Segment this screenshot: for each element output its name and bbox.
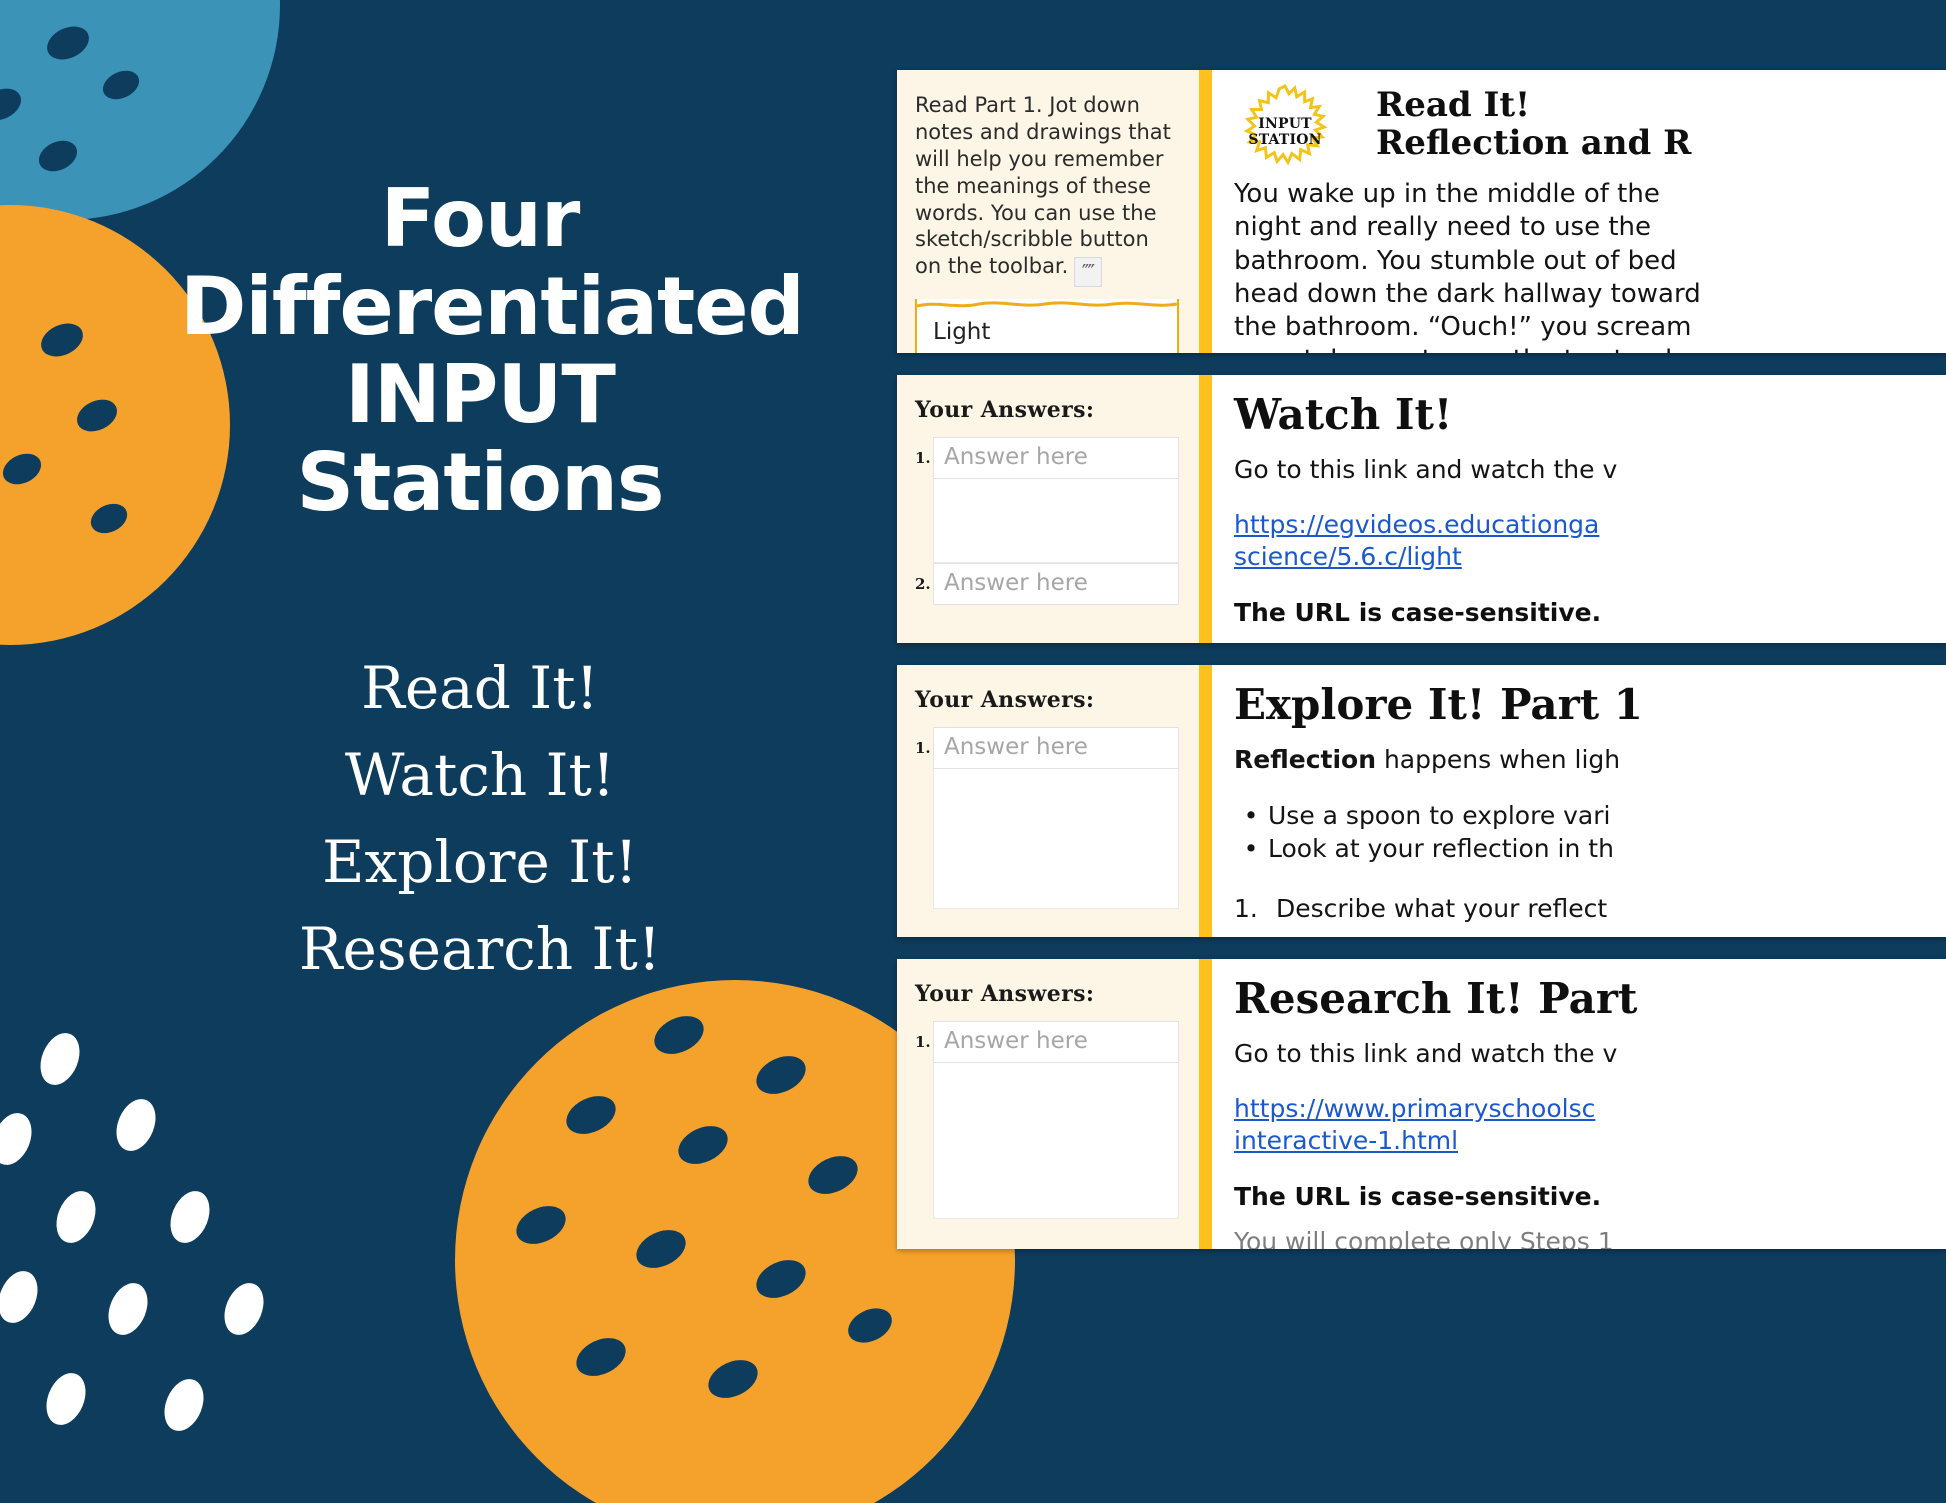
answer-input-1[interactable]: Answer here (933, 1021, 1179, 1063)
vocab-word: Light (917, 311, 1177, 353)
bullet-icon: • (1234, 799, 1268, 833)
research-it-faded-line: You will complete only Steps 1 (1234, 1227, 1946, 1249)
badge-label: INPUT STATION (1236, 84, 1334, 182)
question-number: 1. (1234, 892, 1276, 926)
research-it-content-pane: Research It! Part Go to this link and wa… (1199, 959, 1946, 1249)
research-it-url-note: The URL is case-sensitive. (1234, 1182, 1946, 1211)
research-it-answers-pane: Your Answers: 1. Answer here (897, 959, 1199, 1249)
explore-it-title: Explore It! Part 1 (1234, 681, 1946, 728)
page-title: Four Differentiated INPUT Stations (180, 175, 780, 527)
research-it-intro: Go to this link and watch the v (1234, 1038, 1946, 1071)
watch-it-intro: Go to this link and watch the v (1234, 454, 1946, 487)
squiggle-border-icon (917, 299, 1177, 311)
slide-canvas: Four Differentiated INPUT Stations Read … (0, 0, 1946, 1503)
definition-text: happens when ligh (1376, 745, 1620, 774)
question-text: Describe what your reflect (1276, 892, 1607, 926)
answers-label: Your Answers: (915, 687, 1179, 713)
title-line-3: INPUT (345, 348, 615, 441)
list-item: •Look at your reflection in th (1234, 832, 1946, 866)
list-item: •Use a spoon to explore vari (1234, 799, 1946, 833)
station-watch-it: Watch It! (180, 732, 780, 819)
card-explore-it: Your Answers: 1. Answer here Explore It!… (897, 665, 1946, 937)
answers-label: Your Answers: (915, 981, 1179, 1007)
explore-it-answers-pane: Your Answers: 1. Answer here (897, 665, 1199, 937)
title-line-4: Stations (296, 436, 663, 529)
answer-input-1[interactable]: Answer here (933, 727, 1179, 769)
card-watch-it: Your Answers: 1. Answer here 2. Answer h… (897, 375, 1946, 643)
research-it-title: Research It! Part (1234, 975, 1946, 1022)
hero-block: Four Differentiated INPUT Stations Read … (180, 175, 780, 993)
explore-it-content-pane: Explore It! Part 1 Reflection happens wh… (1199, 665, 1946, 937)
station-read-it: Read It! (180, 645, 780, 732)
scribble-icon[interactable]: ⁗ (1074, 257, 1102, 287)
watch-it-content-pane: Watch It! Go to this link and watch the … (1199, 375, 1946, 643)
research-it-link[interactable]: https://www.primaryschoolsc interactive-… (1234, 1093, 1946, 1158)
explore-it-questions: 1.Describe what your reflect (1234, 892, 1946, 926)
station-card-stack: Read Part 1. Jot down notes and drawings… (897, 70, 1946, 1271)
answers-label: Your Answers: (915, 397, 1179, 423)
bullet-icon: • (1234, 832, 1268, 866)
answer-number: 1. (915, 727, 933, 757)
read-it-title: Read It! (1376, 86, 1946, 124)
bullet-text: Look at your reflection in th (1268, 832, 1614, 866)
explore-it-definition: Reflection happens when ligh (1234, 744, 1946, 777)
bullet-text: Use a spoon to explore vari (1268, 799, 1610, 833)
explore-it-bullets: •Use a spoon to explore vari •Look at yo… (1234, 799, 1946, 866)
watch-it-title: Watch It! (1234, 391, 1946, 438)
list-item: 1.Describe what your reflect (1234, 892, 1946, 926)
station-explore-it: Explore It! (180, 819, 780, 906)
read-it-worksheet-pane: Read Part 1. Jot down notes and drawings… (897, 70, 1199, 353)
read-it-body: You wake up in the middle of the night a… (1234, 178, 1946, 353)
station-research-it: Research It! (180, 906, 780, 993)
answer-row: 2. Answer here (915, 563, 1179, 605)
vocab-box: Light Type/draw here. (915, 299, 1179, 353)
badge-line-2: STATION (1248, 133, 1321, 149)
answer-body-1[interactable] (933, 769, 1179, 909)
read-it-content-pane: INPUT STATION Read It! Reflection and R … (1199, 70, 1946, 353)
answer-input-1[interactable]: Answer here (933, 437, 1179, 479)
answer-body-1[interactable] (933, 1063, 1179, 1219)
watch-it-answers-pane: Your Answers: 1. Answer here 2. Answer h… (897, 375, 1199, 643)
answer-number: 2. (915, 563, 933, 593)
title-line-2: Differentiated (180, 260, 804, 353)
read-it-subtitle: Reflection and R (1376, 124, 1946, 162)
station-list: Read It! Watch It! Explore It! Research … (180, 645, 780, 993)
answer-input-2[interactable]: Answer here (933, 563, 1179, 605)
answer-row: 1. Answer here (915, 437, 1179, 479)
white-dots-decoration (0, 1020, 300, 1500)
watch-it-link[interactable]: https://egvideos.educationga science/5.6… (1234, 509, 1946, 574)
read-it-heading-block: Read It! Reflection and R (1234, 86, 1946, 162)
title-line-1: Four (381, 172, 580, 265)
answer-number: 1. (915, 1021, 933, 1051)
card-read-it: Read Part 1. Jot down notes and drawings… (897, 70, 1946, 353)
watch-it-url-note: The URL is case-sensitive. (1234, 598, 1946, 627)
answer-row: 1. Answer here (915, 727, 1179, 769)
card-research-it: Your Answers: 1. Answer here Research It… (897, 959, 1946, 1249)
input-station-badge: INPUT STATION (1236, 84, 1334, 182)
answer-body-1[interactable] (933, 479, 1179, 563)
read-it-instructions: Read Part 1. Jot down notes and drawings… (915, 92, 1179, 287)
definition-term: Reflection (1234, 745, 1376, 774)
answer-row: 1. Answer here (915, 1021, 1179, 1063)
badge-line-1: INPUT (1258, 117, 1312, 133)
answer-number: 1. (915, 437, 933, 467)
